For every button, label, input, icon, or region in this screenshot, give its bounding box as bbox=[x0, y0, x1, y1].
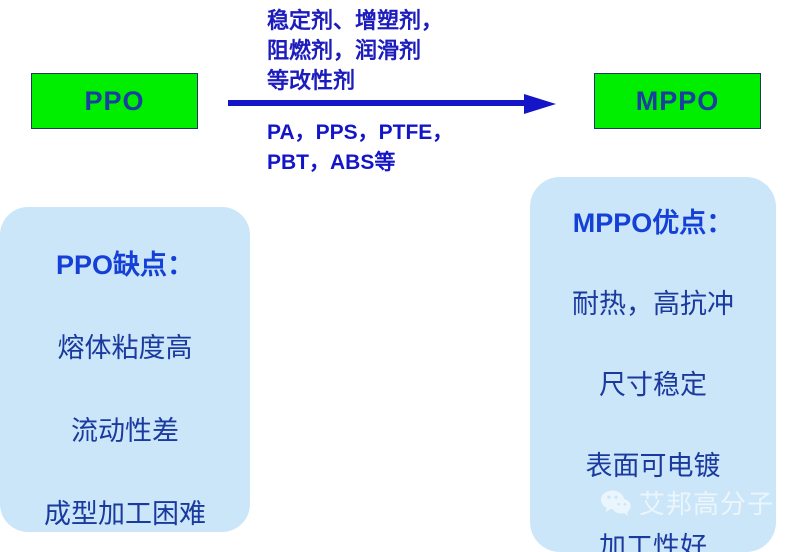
list-item: 加工性好 bbox=[530, 525, 776, 552]
additives-annotation: 稳定剂、增塑剂， 阻燃剂，润滑剂 等改性剂 bbox=[267, 6, 537, 96]
blend-resins-annotation: PA，PPS，PTFE， PBT，ABS等 bbox=[267, 118, 542, 178]
list-item: 流动性差 bbox=[0, 409, 250, 448]
mppo-box: MPPO bbox=[594, 73, 761, 129]
list-item: 表面可电镀 bbox=[530, 444, 776, 483]
list-item: 尺寸稳定 bbox=[530, 363, 776, 402]
arrow-shaft bbox=[228, 100, 528, 106]
ppo-drawbacks-panel: PPO缺点： 熔体粘度高 流动性差 成型加工困难 bbox=[0, 207, 250, 532]
mppo-advantages-panel: MPPO优点： 耐热，高抗冲 尺寸稳定 表面可电镀 加工性好 bbox=[530, 177, 776, 552]
list-item: 耐热，高抗冲 bbox=[530, 282, 776, 321]
list-item: 熔体粘度高 bbox=[0, 326, 250, 365]
right-arrow-icon bbox=[228, 94, 558, 114]
ppo-drawbacks-title: PPO缺点： bbox=[0, 243, 250, 282]
ppo-box: PPO bbox=[31, 73, 198, 129]
arrow-head bbox=[524, 94, 556, 114]
slide-canvas: PPO MPPO 稳定剂、增塑剂， 阻燃剂，润滑剂 等改性剂 PA，PPS，PT… bbox=[0, 0, 792, 552]
list-item: 成型加工困难 bbox=[0, 492, 250, 531]
mppo-advantages-title: MPPO优点： bbox=[530, 201, 776, 240]
